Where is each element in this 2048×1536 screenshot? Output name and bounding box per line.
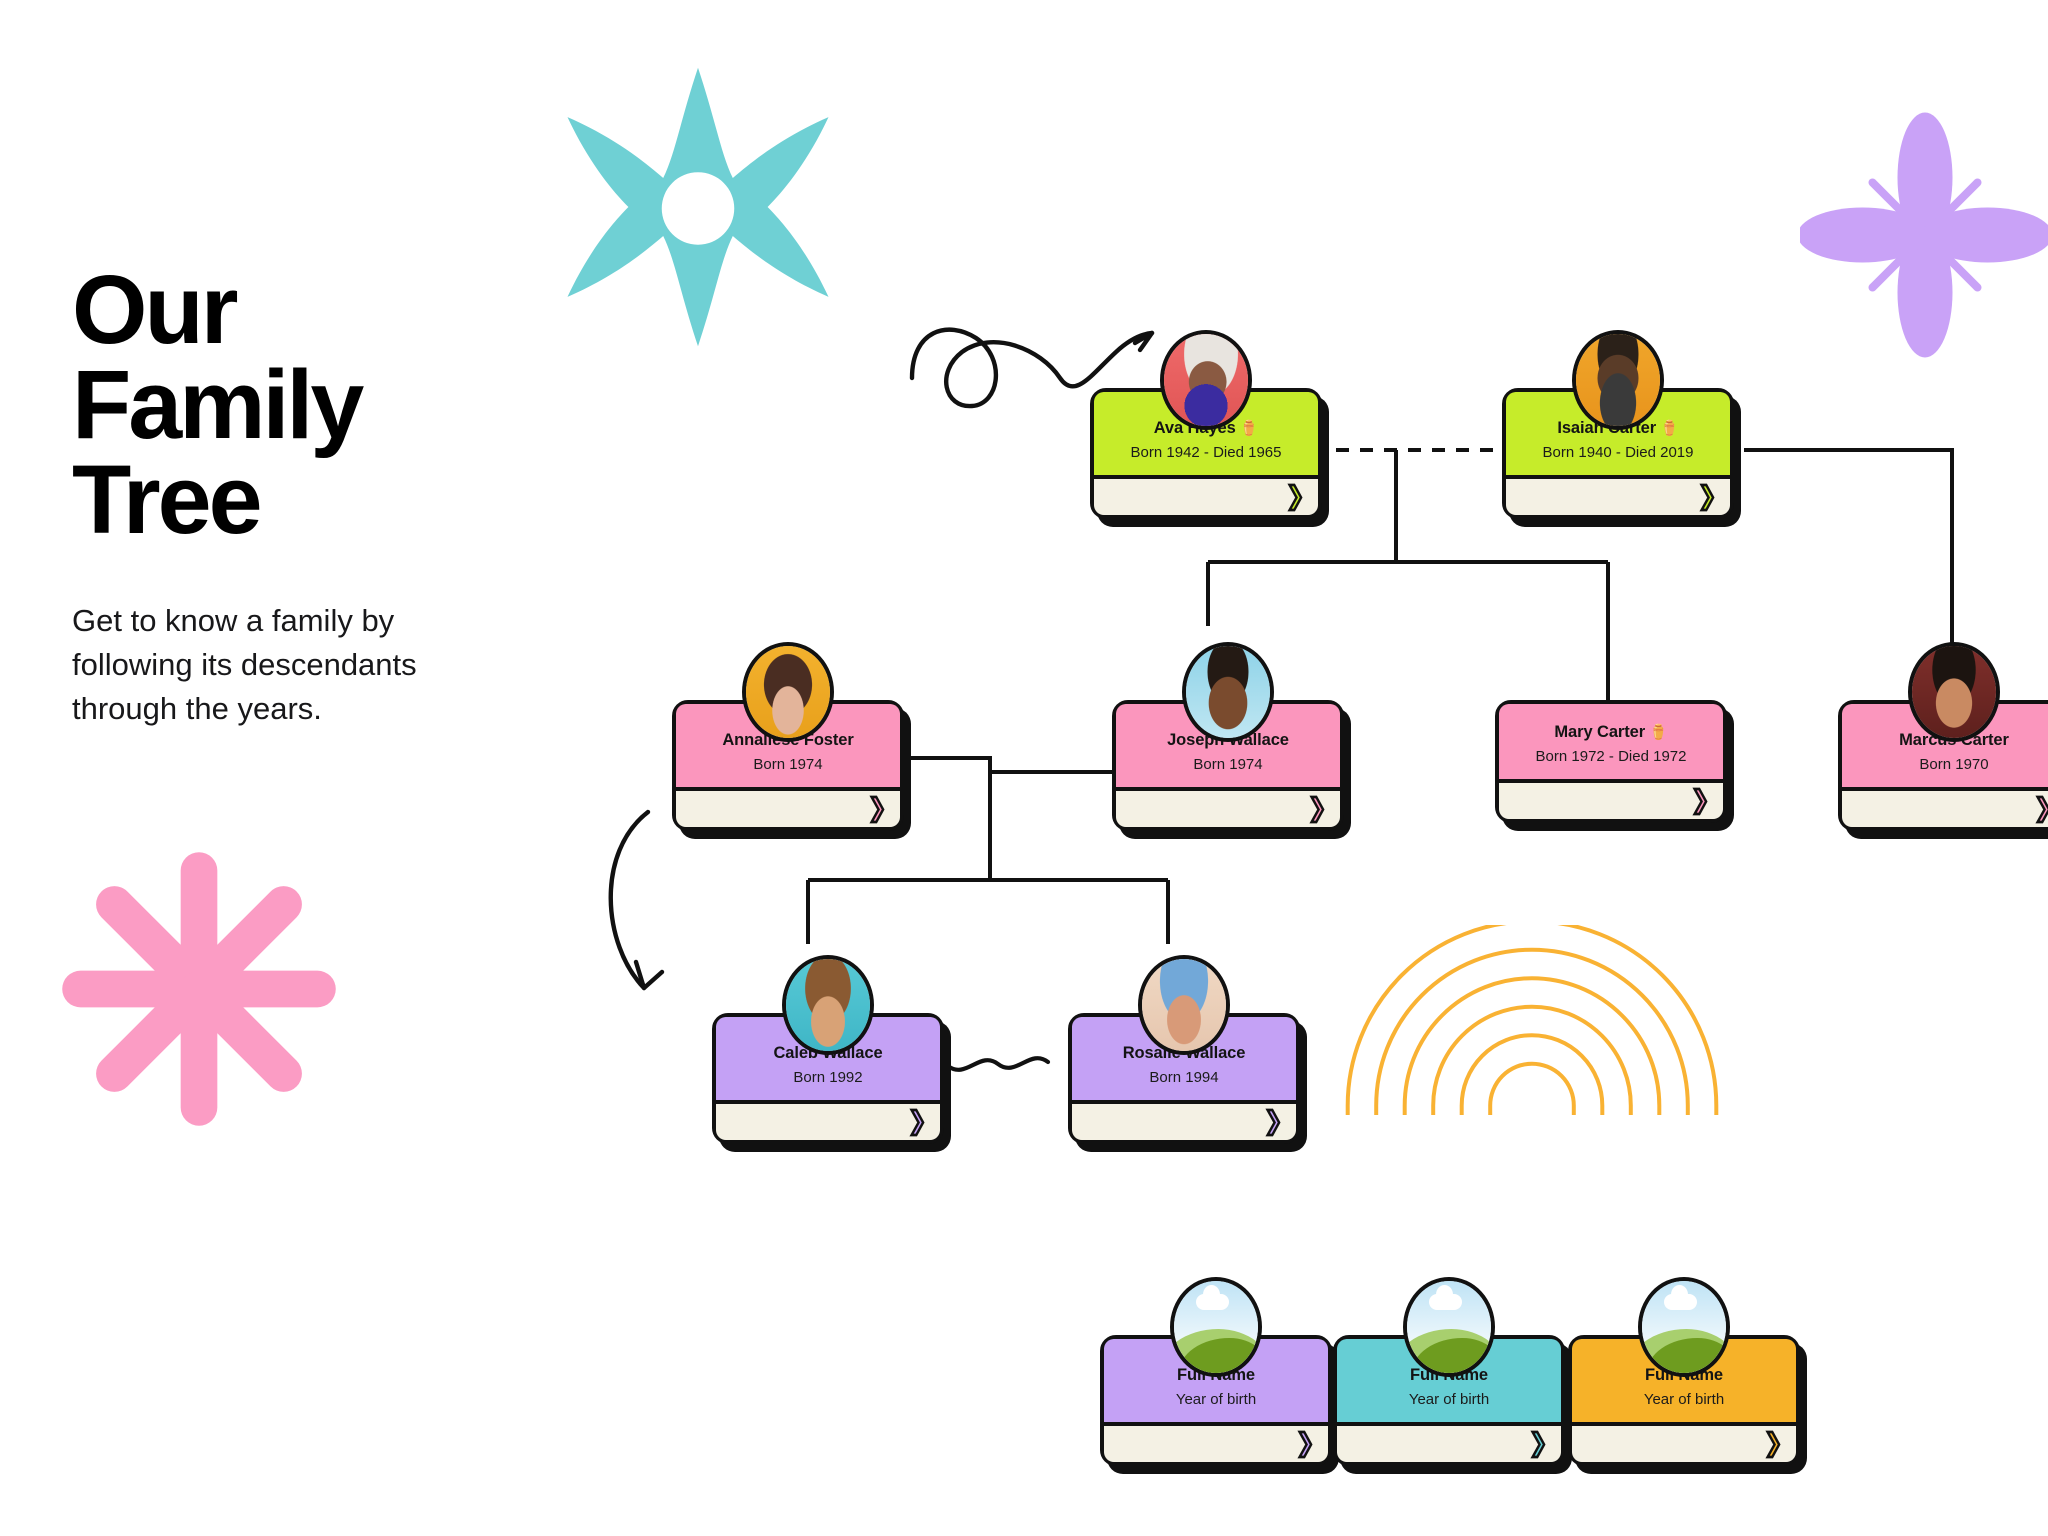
chevron-right-icon[interactable]: ❯ bbox=[1691, 788, 1709, 813]
card-footer[interactable]: ❯ bbox=[716, 1104, 940, 1140]
card-footer[interactable]: ❯ bbox=[1842, 791, 2048, 827]
template-card-purple[interactable]: Full Name Year of birth ❯ bbox=[1100, 1335, 1332, 1466]
person-dates: Born 1974 bbox=[1124, 756, 1332, 773]
card-footer[interactable]: ❯ bbox=[1499, 783, 1723, 819]
funeral-urn-icon: ⚱️ bbox=[1649, 725, 1668, 740]
avatar-caleb-wallace bbox=[782, 955, 874, 1055]
avatar-joseph-wallace bbox=[1182, 642, 1274, 742]
person-dates: Born 1992 bbox=[724, 1069, 932, 1086]
person-dates: Born 1942 - Died 1965 bbox=[1102, 444, 1310, 461]
person-card-joseph-wallace[interactable]: Joseph Wallace Born 1974 ❯ bbox=[1112, 700, 1344, 831]
person-dates: Born 1940 - Died 2019 bbox=[1514, 444, 1722, 461]
chevron-right-icon[interactable]: ❯ bbox=[1308, 796, 1326, 821]
title-line-3: Tree bbox=[72, 445, 260, 554]
connector-lines bbox=[0, 0, 2048, 1536]
avatar-marcus-carter bbox=[1908, 642, 2000, 742]
card-footer[interactable]: ❯ bbox=[1094, 479, 1318, 515]
person-card-isaiah-carter[interactable]: Isaiah Carter ⚱️ Born 1940 - Died 2019 ❯ bbox=[1502, 388, 1734, 519]
headline-block: Our Family Tree Get to know a family by … bbox=[72, 262, 502, 731]
avatar-placeholder bbox=[1403, 1277, 1495, 1377]
avatar-rosalie-wallace bbox=[1138, 955, 1230, 1055]
person-dates: Born 1974 bbox=[684, 756, 892, 773]
title-line-1: Our bbox=[72, 255, 235, 364]
card-footer[interactable]: ❯ bbox=[1116, 791, 1340, 827]
card-footer[interactable]: ❯ bbox=[1104, 1426, 1328, 1462]
family-tree-canvas: Our Family Tree Get to know a family by … bbox=[0, 0, 2048, 1536]
card-footer[interactable]: ❯ bbox=[676, 791, 900, 827]
person-card-caleb-wallace[interactable]: Caleb Wallace Born 1992 ❯ bbox=[712, 1013, 944, 1144]
person-name: Mary Carter ⚱️ bbox=[1507, 722, 1715, 743]
card-footer[interactable]: ❯ bbox=[1572, 1426, 1796, 1462]
curved-down-arrow-icon bbox=[611, 812, 662, 988]
avatar-annaliese-foster bbox=[742, 642, 834, 742]
chevron-right-icon[interactable]: ❯ bbox=[908, 1109, 926, 1134]
template-card-teal[interactable]: Full Name Year of birth ❯ bbox=[1333, 1335, 1565, 1466]
chevron-right-icon[interactable]: ❯ bbox=[868, 796, 886, 821]
person-card-ava-hayes[interactable]: Ava Hayes ⚱️ Born 1942 - Died 1965 ❯ bbox=[1090, 388, 1322, 519]
person-dates: Born 1972 - Died 1972 bbox=[1507, 748, 1715, 765]
person-card-annaliese-foster[interactable]: Annaliese Foster Born 1974 ❯ bbox=[672, 700, 904, 831]
person-dates: Born 1994 bbox=[1080, 1069, 1288, 1086]
template-card-amber[interactable]: Full Name Year of birth ❯ bbox=[1568, 1335, 1800, 1466]
card-footer[interactable]: ❯ bbox=[1072, 1104, 1296, 1140]
chevron-right-icon[interactable]: ❯ bbox=[1529, 1431, 1547, 1456]
person-card-rosalie-wallace[interactable]: Rosalie Wallace Born 1994 ❯ bbox=[1068, 1013, 1300, 1144]
card-footer[interactable]: ❯ bbox=[1506, 479, 1730, 515]
avatar-placeholder bbox=[1638, 1277, 1730, 1377]
template-dates: Year of birth bbox=[1112, 1391, 1320, 1408]
template-dates: Year of birth bbox=[1580, 1391, 1788, 1408]
person-card-marcus-carter[interactable]: Marcus Carter Born 1970 ❯ bbox=[1838, 700, 2048, 831]
squiggle-left-arrow-icon bbox=[928, 1050, 1048, 1074]
card-footer[interactable]: ❯ bbox=[1337, 1426, 1561, 1462]
chevron-right-icon[interactable]: ❯ bbox=[1264, 1109, 1282, 1134]
person-dates: Born 1970 bbox=[1850, 756, 2048, 773]
page-title: Our Family Tree bbox=[72, 262, 502, 547]
person-card-mary-carter[interactable]: Mary Carter ⚱️ Born 1972 - Died 1972 ❯ bbox=[1495, 700, 1727, 823]
page-subtitle: Get to know a family by following its de… bbox=[72, 599, 502, 731]
chevron-right-icon[interactable]: ❯ bbox=[1764, 1431, 1782, 1456]
avatar-isaiah-carter bbox=[1572, 330, 1664, 430]
avatar-ava-hayes bbox=[1160, 330, 1252, 430]
chevron-right-icon[interactable]: ❯ bbox=[2034, 796, 2048, 821]
template-dates: Year of birth bbox=[1345, 1391, 1553, 1408]
funeral-urn-icon: ⚱️ bbox=[1660, 421, 1679, 436]
avatar-placeholder bbox=[1170, 1277, 1262, 1377]
chevron-right-icon[interactable]: ❯ bbox=[1286, 484, 1304, 509]
chevron-right-icon[interactable]: ❯ bbox=[1296, 1431, 1314, 1456]
chevron-right-icon[interactable]: ❯ bbox=[1698, 484, 1716, 509]
title-line-2: Family bbox=[72, 350, 361, 459]
